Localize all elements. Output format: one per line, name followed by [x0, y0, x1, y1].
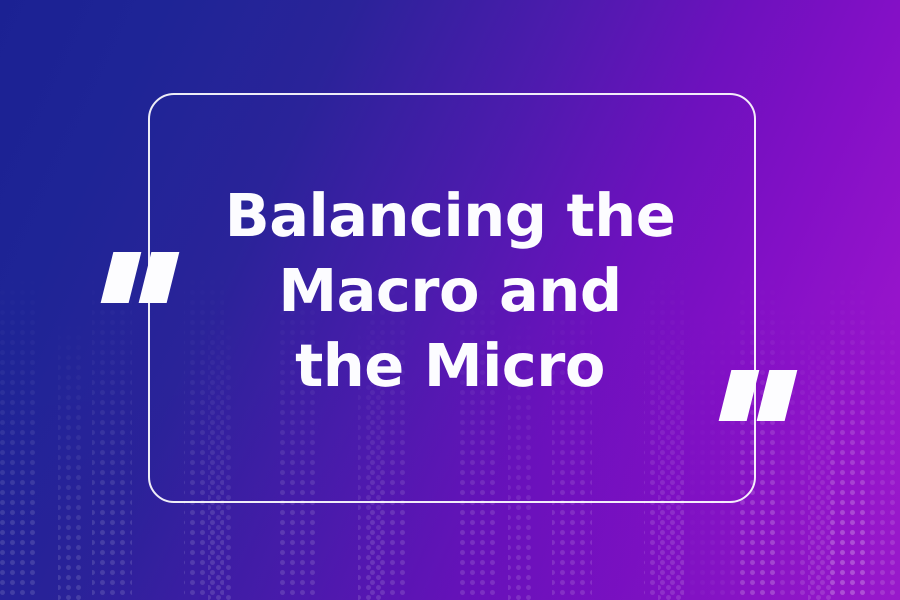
headline-line-2: Macro and — [170, 253, 730, 328]
headline-line-3: the Micro — [170, 328, 730, 403]
quote-slide: Balancing the Macro and the Micro — [0, 0, 900, 600]
page-title: Balancing the Macro and the Micro — [0, 178, 900, 403]
headline-line-1: Balancing the — [170, 178, 730, 253]
